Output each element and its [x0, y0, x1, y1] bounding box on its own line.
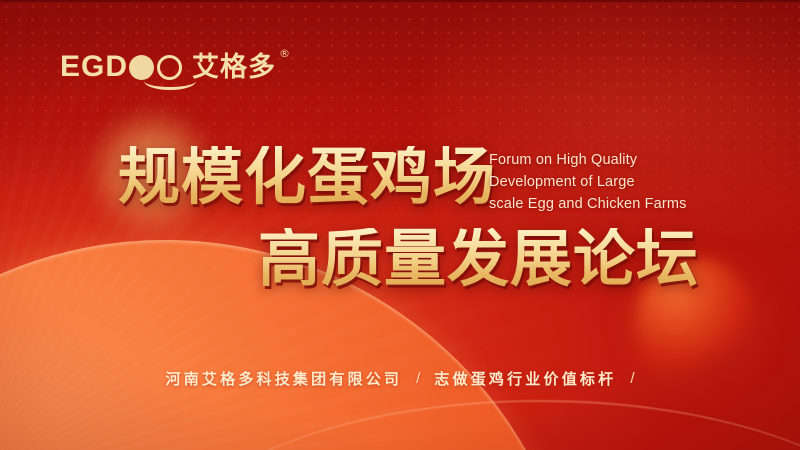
tagline-separator-2: / — [630, 370, 634, 387]
english-subtitle: Forum on High Quality Development of Lar… — [489, 150, 686, 215]
poster-canvas: E G D 艾格多 ® 规模化蛋鸡场 高质量发展论坛 Forum on High… — [0, 0, 800, 450]
title-glow-orb — [86, 106, 218, 238]
brand-logo[interactable]: E G D 艾格多 ® — [60, 52, 276, 82]
tagline-slogan: 志做蛋鸡行业价值标杆 — [434, 368, 616, 389]
tagline-company: 河南艾格多科技集团有限公司 — [166, 368, 403, 389]
logo-chinese-name: 艾格多 ® — [192, 54, 276, 81]
tagline-separator-1: / — [416, 370, 420, 387]
logo-chinese-text: 艾格多 — [192, 52, 276, 83]
red-sphere-decoration — [636, 258, 754, 386]
logo-letter-e: E — [60, 52, 80, 82]
subtitle-line-2: Development of Large — [489, 172, 686, 194]
logo-wordmark: E G D — [60, 52, 183, 82]
top-edge-line — [0, 0, 800, 2]
logo-letter-d: D — [105, 52, 127, 82]
subtitle-line-3: scale Egg and Chicken Farms — [489, 194, 686, 216]
subtitle-line-1: Forum on High Quality — [489, 150, 686, 172]
trademark-icon: ® — [279, 48, 291, 59]
logo-letter-g: G — [81, 52, 104, 82]
bottom-tagline: 河南艾格多科技集团有限公司 / 志做蛋鸡行业价值标杆 / — [0, 368, 800, 389]
logo-smile-arc-icon — [144, 72, 196, 90]
